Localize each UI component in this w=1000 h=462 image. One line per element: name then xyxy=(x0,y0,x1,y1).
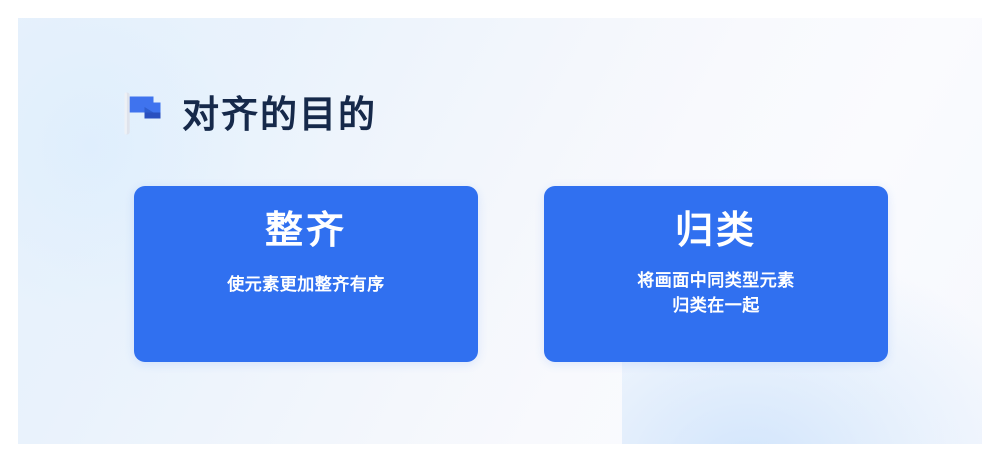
purpose-card-grouping[interactable]: 归类 将画面中同类型元素 归类在一起 xyxy=(544,186,888,362)
slide-frame: 对齐的目的 整齐 使元素更加整齐有序 归类 将画面中同类型元素 归类在一起 xyxy=(0,0,1000,462)
card-heading: 归类 xyxy=(675,210,757,254)
card-description-line: 使元素更加整齐有序 xyxy=(227,272,385,298)
purpose-card-tidy[interactable]: 整齐 使元素更加整齐有序 xyxy=(134,186,478,362)
blue-flag-icon xyxy=(116,88,168,140)
card-description-line: 归类在一起 xyxy=(637,293,795,319)
card-description-line: 将画面中同类型元素 xyxy=(637,268,795,294)
purpose-card-list: 整齐 使元素更加整齐有序 归类 将画面中同类型元素 归类在一起 xyxy=(134,186,888,362)
card-description: 将画面中同类型元素 归类在一起 xyxy=(637,268,795,319)
card-heading: 整齐 xyxy=(265,210,347,254)
page-title: 对齐的目的 xyxy=(182,96,377,133)
slide-surface: 对齐的目的 整齐 使元素更加整齐有序 归类 将画面中同类型元素 归类在一起 xyxy=(18,18,982,444)
card-description: 使元素更加整齐有序 xyxy=(227,272,385,298)
slide-title-row: 对齐的目的 xyxy=(116,88,377,140)
